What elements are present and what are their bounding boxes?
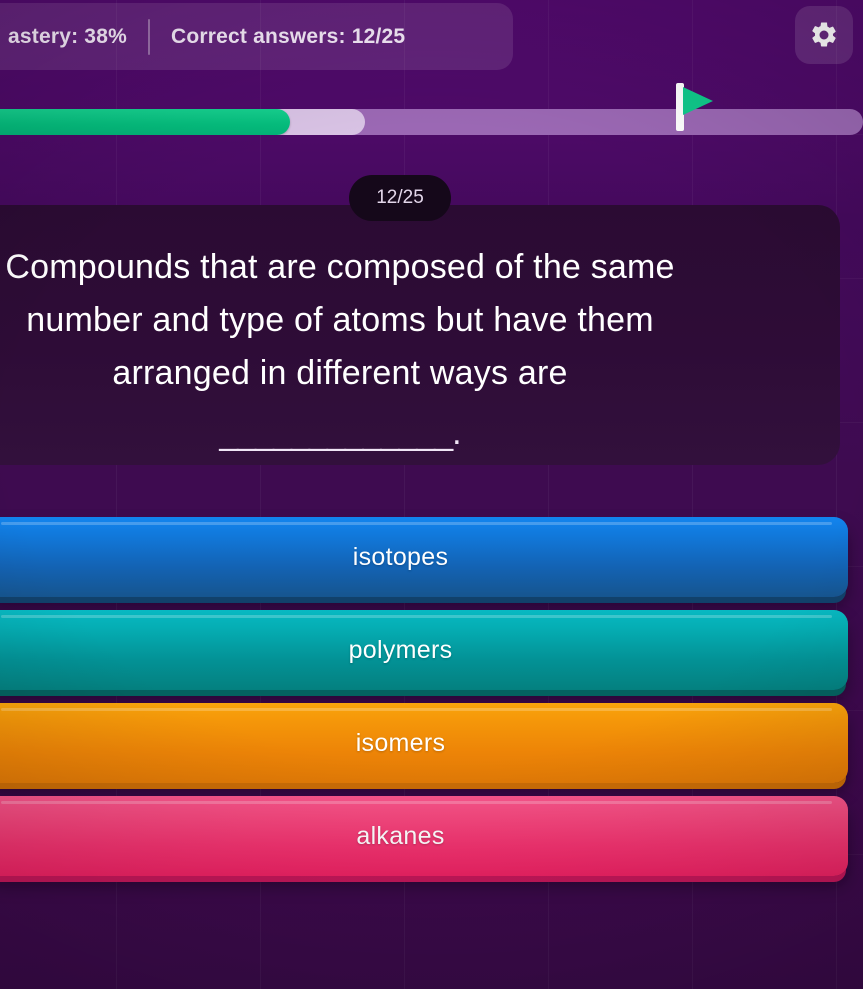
mastery-stat: astery: 38% (8, 25, 127, 49)
answer-option-isomers[interactable]: isomers (0, 703, 848, 783)
correct-answers-stat: Correct answers: 12/25 (171, 25, 405, 49)
question-counter-badge: 12/25 (349, 175, 451, 221)
settings-button[interactable] (795, 6, 853, 64)
answer-label: isotopes (353, 543, 449, 572)
answer-option-polymers[interactable]: polymers (0, 610, 848, 690)
question-blank: _____________. (0, 414, 680, 453)
quiz-screen: astery: 38% Correct answers: 12/25 12/25… (0, 0, 863, 989)
question-text: Compounds that are composed of the same … (0, 241, 680, 400)
question-card: Compounds that are composed of the same … (0, 205, 840, 465)
answer-options-list: isotopes polymers isomers alkanes (0, 517, 848, 889)
flag-cloth (683, 87, 713, 115)
progress-track (0, 109, 863, 135)
goal-flag-icon (676, 83, 726, 131)
answer-label: isomers (356, 729, 446, 758)
answer-label: polymers (349, 636, 453, 665)
stats-pill: astery: 38% Correct answers: 12/25 (0, 3, 513, 70)
stats-divider (148, 19, 150, 55)
answer-option-isotopes[interactable]: isotopes (0, 517, 848, 597)
answer-option-alkanes[interactable]: alkanes (0, 796, 848, 876)
progress-primary-fill (0, 109, 290, 135)
progress-bar (0, 109, 863, 135)
answer-label: alkanes (356, 822, 444, 851)
gear-icon (809, 20, 839, 50)
